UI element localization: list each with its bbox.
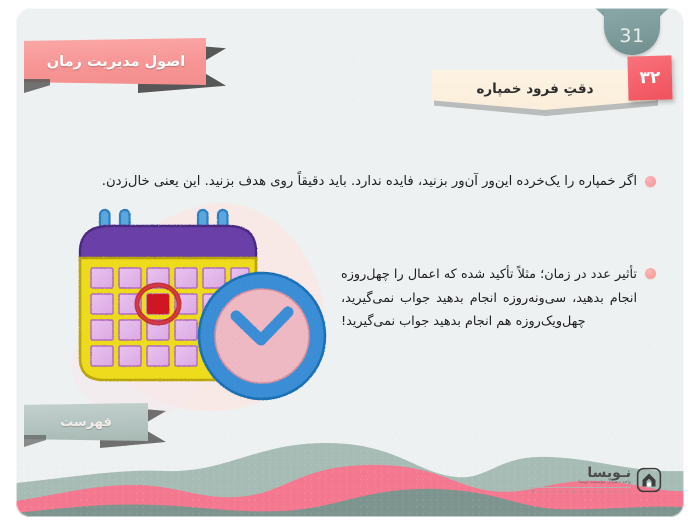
index-ribbon-label: فهرست xyxy=(28,403,144,441)
index-ribbon[interactable]: فهرست xyxy=(16,403,166,443)
bullet-dot-icon xyxy=(645,268,656,279)
logo-word: نـویسا xyxy=(587,466,631,480)
logo-wordmark: نـویسا واحد دیجیتال مؤسسه نویسا M A S S … xyxy=(532,466,631,494)
section-title-banner: دقتِ فرود خمپاره ۳۲ xyxy=(432,70,660,112)
diamond-emblem-icon xyxy=(636,467,662,493)
logo-divider xyxy=(532,487,631,488)
section-number-badge: ۳۲ xyxy=(627,55,672,100)
illustration-artwork xyxy=(64,204,342,419)
bullet-dot-icon xyxy=(645,176,656,187)
logo-tagline-fa: واحد دیجیتال مؤسسه نویسا xyxy=(578,481,631,486)
page-number-badge: 31 xyxy=(604,8,660,56)
logo-tagline-en: M A S S I S H A P R O J E C T xyxy=(532,490,631,494)
section-title-text: دقتِ فرود خمپاره xyxy=(432,70,638,108)
chapter-ribbon-label: اصول مدیریت زمان xyxy=(30,38,202,85)
calendar-and-clock-illustration xyxy=(64,204,342,419)
brand-logo[interactable]: نـویسا واحد دیجیتال مؤسسه نویسا M A S S … xyxy=(532,465,662,495)
section-number-text: ۳۲ xyxy=(639,68,660,89)
slide-canvas: اصول مدیریت زمان 31 دقتِ فرود خمپاره ۳۲ … xyxy=(0,0,700,525)
bullet-text: اگر خمپاره را یک‌خرده این‌ور آن‌ور بزنید… xyxy=(102,171,637,192)
bookmark-body: 31 xyxy=(604,8,660,55)
page-number-text: 31 xyxy=(619,25,644,47)
bullet-text: تأثیر عدد در زمان؛ مثلاً تأکید شده که اع… xyxy=(341,263,637,334)
chapter-ribbon[interactable]: اصول مدیریت زمان xyxy=(16,38,224,86)
slide-sheet: اصول مدیریت زمان 31 دقتِ فرود خمپاره ۳۲ … xyxy=(16,8,684,517)
bullet-item: تأثیر عدد در زمان؛ مثلاً تأکید شده که اع… xyxy=(338,263,656,334)
bullet-item: اگر خمپاره را یک‌خرده این‌ور آن‌ور بزنید… xyxy=(26,171,656,192)
